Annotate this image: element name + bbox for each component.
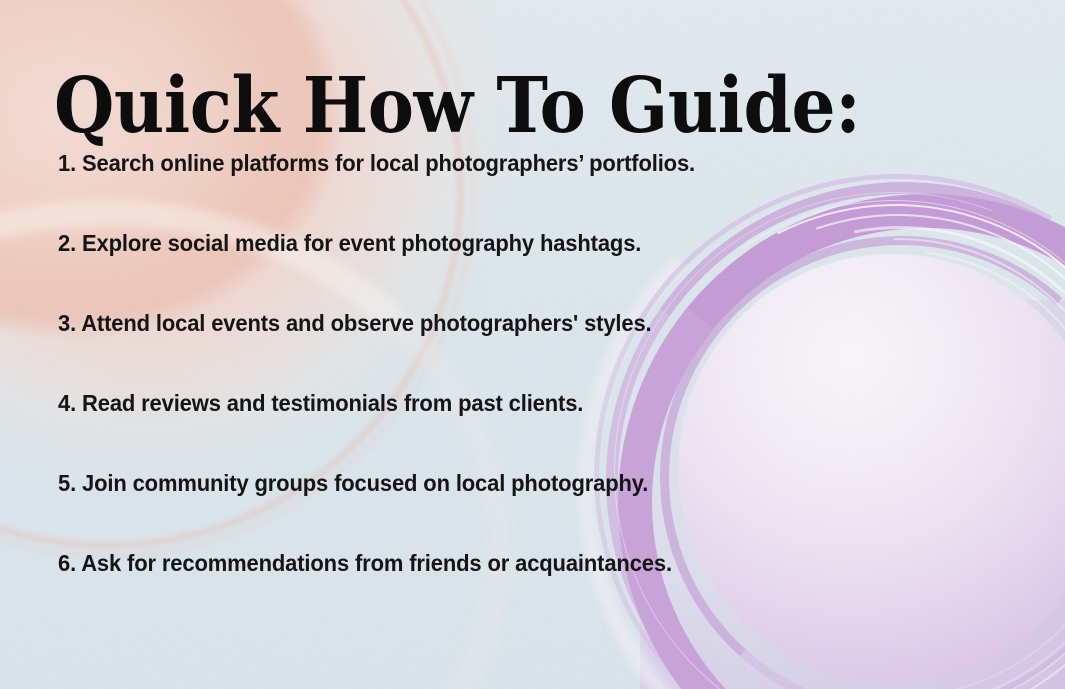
step-text: 1. Search online platforms for local pho…	[58, 150, 695, 176]
list-item: 2. Explore social media for event photog…	[58, 230, 998, 310]
step-text: 6. Ask for recommendations from friends …	[58, 550, 672, 576]
step-text: 3. Attend local events and observe photo…	[58, 310, 652, 336]
list-item: 4. Read reviews and testimonials from pa…	[58, 390, 998, 470]
step-text: 2. Explore social media for event photog…	[58, 230, 641, 256]
list-item: 6. Ask for recommendations from friends …	[58, 550, 998, 630]
poster-content: Quick How To Guide: 1. Search online pla…	[0, 0, 1065, 689]
steps-list: 1. Search online platforms for local pho…	[58, 150, 998, 630]
list-item: 3. Attend local events and observe photo…	[58, 310, 998, 390]
page-title: Quick How To Guide:	[54, 68, 860, 145]
step-text: 4. Read reviews and testimonials from pa…	[58, 390, 583, 416]
poster-canvas: Quick How To Guide: 1. Search online pla…	[0, 0, 1065, 689]
list-item: 5. Join community groups focused on loca…	[58, 470, 998, 550]
list-item: 1. Search online platforms for local pho…	[58, 150, 998, 230]
step-text: 5. Join community groups focused on loca…	[58, 470, 648, 496]
